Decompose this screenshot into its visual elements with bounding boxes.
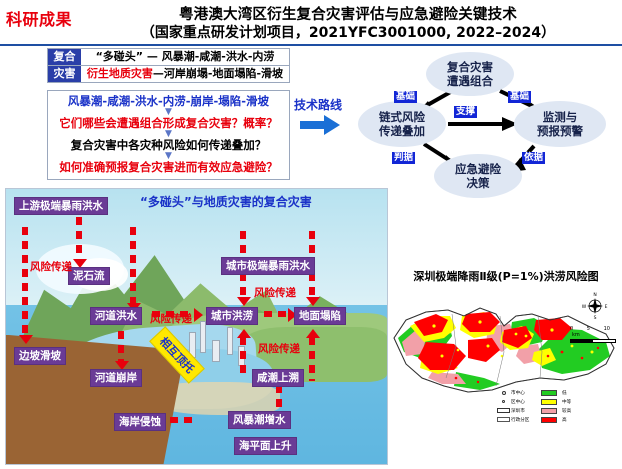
edge-tag-basis-right: 基础 [508, 91, 531, 103]
district-center-icon [496, 400, 511, 403]
risk-arrowhead-10 [306, 329, 320, 338]
legend-risk-label-low: 低 [557, 390, 567, 396]
down-arrow-icon-1: ▼ [50, 109, 287, 116]
flow-node-compound-hazard-line2: 遭遇组合 [447, 74, 493, 88]
down-arrow-icon-3: ▼ [50, 153, 287, 160]
flow-node-chain-risk-line1: 链式风险 [379, 110, 425, 124]
compound-hazard-row-1: 复合 “多碰头” — 风暴潮-咸潮-洪水-内涝 [47, 48, 290, 66]
research-question-3: 如何准确预报复合灾害进而有效应急避险？ [50, 160, 287, 175]
legend-row-4: 行政分区 高 [496, 415, 614, 424]
risk-arrowhead-5 [194, 308, 203, 322]
risk-arrow-river [130, 227, 136, 305]
flood-risk-map-panel: 深圳极端降雨Ⅱ级(P=1%)洪涝风险图 [392, 268, 620, 466]
hazard-label-debris-flow[interactable]: 泥石流 [68, 267, 110, 285]
flow-node-compound-hazard-line1: 复合灾害 [447, 60, 493, 74]
risk-transfer-label-3: 风险传递 [254, 285, 296, 300]
edge-tag-basis-left: 基础 [394, 91, 417, 103]
hazard-label-storm-surge[interactable]: 风暴潮增水 [228, 411, 291, 429]
risk-transfer-label-1: 风险传递 [30, 259, 72, 274]
legend-risk-label-medium: 中等 [557, 399, 571, 405]
edge-tag-criteria: 判据 [392, 152, 415, 164]
svg-text:E: E [605, 304, 608, 310]
edge-tag-support: 支撑 [454, 106, 477, 118]
svg-text:N: N [593, 292, 596, 298]
legend-row-1: 市中心 低 [496, 388, 614, 397]
flow-node-emergency-decision-line2: 决策 [467, 176, 490, 190]
flow-node-monitoring-forecast-line1: 监测与 [543, 110, 578, 124]
legend-swatch-very-high [541, 417, 557, 423]
flow-node-compound-hazard[interactable]: 复合灾害 遭遇组合 [426, 52, 514, 96]
compass-rose-icon: N S E W [582, 290, 608, 320]
compound-hazard-text-1: “多碰头” — 风暴潮-咸潮-洪水-内涝 [81, 49, 289, 65]
map-title: 深圳极端降雨Ⅱ级(P=1%)洪涝风险图 [392, 268, 620, 284]
edge-tag-ground: 依据 [522, 152, 545, 164]
risk-transfer-label-2: 风险传递 [150, 311, 192, 326]
hazard-label-coastal-erosion[interactable]: 海岸侵蚀 [114, 413, 166, 431]
hazard-label-urban-waterlog[interactable]: 城市洪涝 [206, 307, 258, 325]
flow-node-chain-risk-line2: 传递叠加 [379, 124, 425, 138]
risk-transfer-label-4: 风险传递 [258, 341, 300, 356]
hazard-label-slope-landslide[interactable]: 边坡滑坡 [14, 347, 66, 365]
page-title: 粤港澳大湾区衍生复合灾害评估与应急避险关键技术 [78, 3, 618, 24]
flow-node-emergency-decision[interactable]: 应急避险 决策 [434, 154, 522, 198]
legend-symbol-label-1: 市中心 [511, 390, 541, 396]
scale-max: 10 [604, 326, 610, 332]
hazard-label-urban-rainstorm[interactable]: 城市极端暴雨洪水 [221, 257, 315, 275]
flow-node-monitoring-forecast[interactable]: 监测与 预报预警 [514, 101, 606, 147]
research-questions-box: 风暴潮-咸潮-洪水-内涝-崩岸-塌陷-滑坡 ▼ 它们哪些会遭遇组合形成复合灾害？… [47, 90, 290, 180]
hazard-label-ground-subsidence[interactable]: 地面塌陷 [294, 307, 346, 325]
hazard-label-upstream-flood[interactable]: 上游极端暴雨洪水 [14, 197, 108, 215]
risk-arrow-surge-up [309, 337, 315, 381]
risk-arrowhead-9 [237, 329, 251, 338]
risk-arrow-bank [118, 331, 124, 363]
map-scale-bar: 0 5 10 km [570, 326, 620, 343]
legend-symbol-label-4: 行政分区 [511, 417, 541, 423]
hazard-label-saltwater-intrusion[interactable]: 咸潮上溯 [252, 369, 304, 387]
risk-arrowhead-8 [306, 297, 320, 306]
tech-route-arrow-icon [300, 115, 340, 139]
risk-arrow-debris [76, 217, 82, 261]
risk-arrow-surge-to-salt [276, 385, 282, 411]
building-4 [227, 327, 233, 355]
page-header: 科研成果 粤港澳大湾区衍生复合灾害评估与应急避险关键技术 （国家重点研发计划项目… [0, 0, 622, 46]
problem-statement-block: 复合 “多碰头” — 风暴潮-咸潮-洪水-内涝 灾害 衍生地质灾害—河岸崩塌-地… [47, 48, 290, 180]
compound-hazard-tag-bottom: 灾害 [48, 66, 81, 82]
risk-arrowhead-1 [19, 335, 33, 344]
svg-text:S: S [594, 315, 597, 320]
city-boundary-icon [496, 408, 511, 413]
legend-swatch-low [541, 390, 557, 396]
hazard-label-river-flood[interactable]: 河道洪水 [90, 307, 142, 325]
flow-node-emergency-decision-line1: 应急避险 [455, 162, 501, 176]
down-arrow-icon-2: ▼ [50, 131, 287, 138]
page-subtitle: （国家重点研发计划项目，2021YFC3001000, 2022–2024） [78, 22, 618, 42]
legend-risk-label-very-high: 高 [557, 417, 567, 423]
legend-risk-label-high: 较高 [557, 408, 571, 414]
technical-roadmap-flowchart: 复合灾害 遭遇组合 链式风险 传递叠加 监测与 预报预警 应急避险 决策 基础 … [350, 52, 622, 188]
risk-arrow-to-subsidence [264, 311, 290, 317]
illustration-title: “多碰头”与地质灾害的复合灾害 [140, 193, 312, 210]
risk-arrow-upstream-left [22, 227, 28, 337]
section-badge: 科研成果 [6, 6, 72, 30]
risk-arrow-saltwater-up [240, 337, 246, 379]
compound-hazard-illustration: “多碰头”与地质灾害的复合灾害 上游极端暴雨洪水 泥石流 边坡滑坡 河道洪水 河… [5, 188, 388, 465]
svg-text:W: W [582, 304, 587, 310]
flow-node-chain-risk[interactable]: 链式风险 传递叠加 [358, 101, 446, 147]
tech-route-label: 技术路线 [294, 96, 342, 113]
building-3 [212, 340, 220, 362]
city-center-icon [496, 391, 511, 395]
compound-hazard-tag-top: 复合 [48, 49, 81, 65]
hazard-label-sea-level-rise[interactable]: 海平面上升 [234, 437, 297, 455]
legend-symbol-label-2: 区中心 [511, 399, 541, 405]
derived-geo-hazard-text: 衍生地质灾害 [87, 67, 153, 80]
flow-node-monitoring-forecast-line2: 预报预警 [537, 124, 583, 138]
header-divider [0, 44, 622, 46]
legend-row-2: 区中心 中等 [496, 397, 614, 406]
building-2 [200, 321, 206, 353]
compound-hazard-row-2: 灾害 衍生地质灾害—河岸崩塌-地面塌陷-滑坡 [47, 66, 290, 83]
legend-symbol-label-3: 深圳市 [511, 408, 541, 414]
legend-swatch-high [541, 408, 557, 414]
scale-bar-graphic [570, 339, 616, 343]
map-legend: 市中心 低 区中心 中等 深圳市 较高 行政分区 高 [496, 388, 614, 424]
hazard-label-bank-collapse[interactable]: 河道崩岸 [90, 369, 142, 387]
scale-unit: km [570, 332, 580, 338]
district-boundary-icon [496, 417, 511, 422]
compound-hazard-text-2: 衍生地质灾害—河岸崩塌-地面塌陷-滑坡 [81, 66, 289, 82]
legend-row-3: 深圳市 较高 [496, 406, 614, 415]
legend-swatch-medium [541, 399, 557, 405]
risk-arrowhead-7 [237, 297, 251, 306]
derived-geo-hazard-detail: —河岸崩塌-地面塌陷-滑坡 [153, 67, 283, 80]
